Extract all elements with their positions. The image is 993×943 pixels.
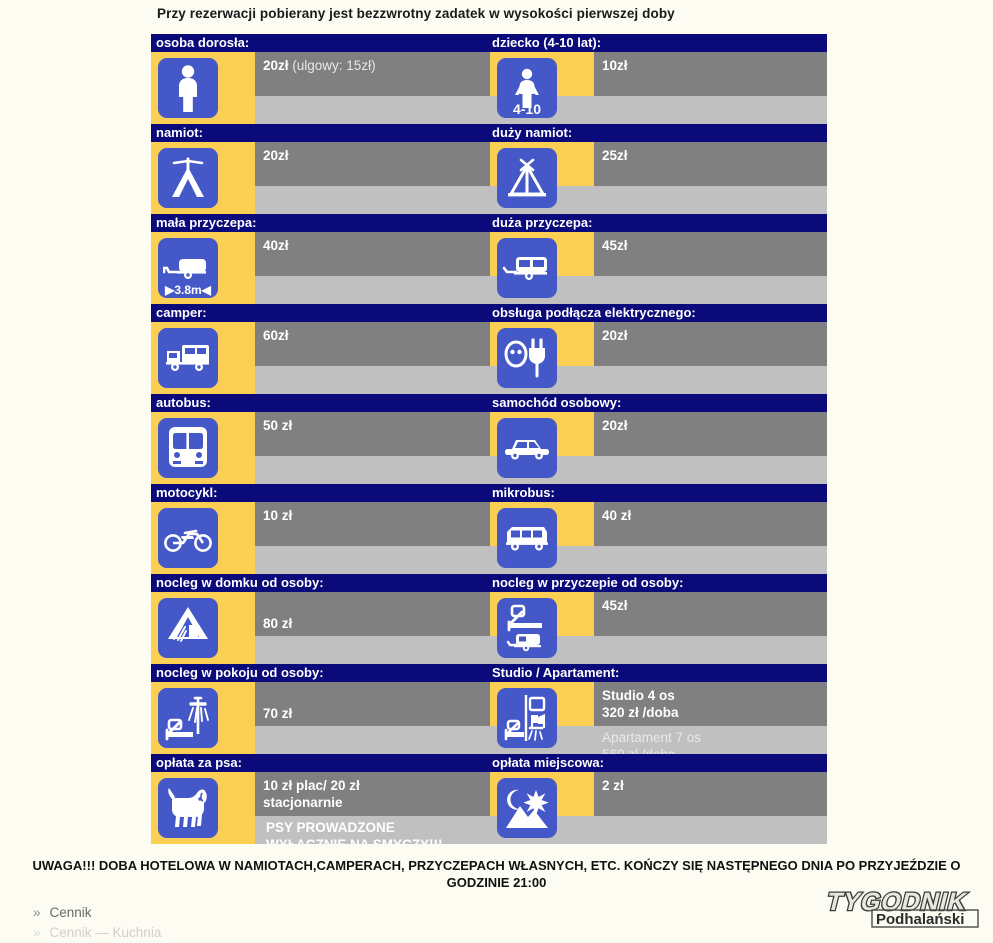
- row-body: 80 zł45zł: [151, 592, 827, 664]
- price-left-value: 40zł: [263, 238, 289, 253]
- table-row: camper:obsługa podłącza elektrycznego:60…: [151, 304, 827, 394]
- price-left: 60zł: [263, 327, 289, 344]
- studio-apartment-icon: [497, 688, 557, 748]
- price-left-value: 20zł: [263, 58, 292, 73]
- footer-link-label: Cennik: [50, 905, 92, 920]
- row-body: 60zł20zł: [151, 322, 827, 394]
- row-header-right: samochód osobowy:: [492, 395, 621, 410]
- big-tent-icon: [497, 148, 557, 208]
- row-header-left: camper:: [156, 305, 207, 320]
- footer-link-1[interactable]: »Cennik — Kuchnia: [33, 923, 353, 943]
- row-header-left: motocykl:: [156, 485, 217, 500]
- footer-link-0[interactable]: »Cennik: [33, 903, 353, 923]
- row-body: 10 zł plac/ 20 zł stacjonarnie PSY PROWA…: [151, 772, 827, 844]
- row-body: 4-1020zł (ulgowy: 15zł)10zł: [151, 52, 827, 124]
- child-person-icon: 4-10: [497, 58, 557, 118]
- logo-line2-text: Podhalański: [876, 911, 964, 928]
- dog-leash-note: PSY PROWADZONE WYŁĄCZNIE NA SMYCZY!!!: [266, 819, 442, 844]
- price-left: 40zł: [263, 237, 289, 254]
- table-row: osoba dorosła:dziecko (4-10 lat):4-1020z…: [151, 34, 827, 124]
- row-header-bar: nocleg w domku od osoby:nocleg w przycze…: [151, 574, 827, 592]
- row-header-right: duży namiot:: [492, 125, 572, 140]
- camper-icon: [158, 328, 218, 388]
- room-bed-shower-icon: [158, 688, 218, 748]
- price-right: 20zł: [602, 417, 628, 434]
- price-left-discount: (ulgowy: 15zł): [292, 58, 375, 73]
- row-header-bar: osoba dorosła:dziecko (4-10 lat):: [151, 34, 827, 52]
- row-header-left: nocleg w domku od osoby:: [156, 575, 324, 590]
- price-left-value: 80 zł: [263, 616, 292, 631]
- row-header-left: osoba dorosła:: [156, 35, 249, 50]
- row-header-right: nocleg w przyczepie od osoby:: [492, 575, 683, 590]
- price-left-value: 10 zł plac/ 20 zł stacjonarnie: [263, 778, 360, 810]
- row-header-bar: mała przyczepa:duża przyczepa:: [151, 214, 827, 232]
- row-body: 20zł25zł: [151, 142, 827, 214]
- row-header-bar: namiot:duży namiot:: [151, 124, 827, 142]
- price-left-value: 10 zł: [263, 508, 292, 523]
- price-right: 10zł: [602, 57, 628, 74]
- table-row: motocykl:mikrobus:10 zł40 zł: [151, 484, 827, 574]
- price-left-value: 20zł: [263, 148, 289, 163]
- table-row: opłata za psa:opłata miejscowa:10 zł pla…: [151, 754, 827, 844]
- reservation-notice: Przy rezerwacji pobierany jest bezzwrotn…: [157, 6, 675, 21]
- cottage-icon: [158, 598, 218, 658]
- price-right-secondary: Apartament 7 os 560 zł /doba: [602, 729, 701, 754]
- caravan-bed-icon: [497, 598, 557, 658]
- price-left: 20zł: [263, 147, 289, 164]
- footer-links: »Cennik»Cennik — Kuchnia: [33, 903, 353, 943]
- row-header-bar: camper:obsługa podłącza elektrycznego:: [151, 304, 827, 322]
- row-header-left: namiot:: [156, 125, 203, 140]
- row-header-right: obsługa podłącza elektrycznego:: [492, 305, 696, 320]
- price-left: 80 zł: [263, 615, 292, 632]
- small-caravan-badge: ▶3.8m◀: [158, 283, 218, 297]
- price-right: 45zł: [602, 597, 628, 614]
- child-person-badge: 4-10: [497, 101, 557, 117]
- price-right: 45zł: [602, 237, 628, 254]
- electric-plug-icon: [497, 328, 557, 388]
- car-icon: [497, 418, 557, 478]
- row-header-right: Studio / Apartament:: [492, 665, 619, 680]
- price-left: 10 zł: [263, 507, 292, 524]
- row-header-bar: nocleg w pokoju od osoby:Studio / Aparta…: [151, 664, 827, 682]
- logo-graphic: TYGODNIK Podhalański: [806, 883, 986, 929]
- tent-icon: [158, 148, 218, 208]
- table-row: autobus:samochód osobowy:50 zł20zł: [151, 394, 827, 484]
- row-header-right: mikrobus:: [492, 485, 555, 500]
- bus-icon: [158, 418, 218, 478]
- price-left: 50 zł: [263, 417, 292, 434]
- price-left: 70 zł: [263, 705, 292, 722]
- large-caravan-icon: [497, 238, 557, 298]
- price-right: Studio 4 os 320 zł /doba: [602, 687, 679, 721]
- price-right: 40 zł: [602, 507, 631, 524]
- row-header-bar: autobus:samochód osobowy:: [151, 394, 827, 412]
- row-header-left: nocleg w pokoju od osoby:: [156, 665, 324, 680]
- row-header-left: mała przyczepa:: [156, 215, 256, 230]
- row-header-right: opłata miejscowa:: [492, 755, 604, 770]
- table-row: mała przyczepa:duża przyczepa:▶3.8m◀40zł…: [151, 214, 827, 304]
- table-row: namiot:duży namiot:20zł25zł: [151, 124, 827, 214]
- price-right: 25zł: [602, 147, 628, 164]
- row-header-right: duża przyczepa:: [492, 215, 592, 230]
- row-header-left: autobus:: [156, 395, 211, 410]
- tygodnik-podhalanski-logo: TYGODNIK Podhalański: [806, 883, 986, 929]
- price-left-value: 50 zł: [263, 418, 292, 433]
- row-header-right: dziecko (4-10 lat):: [492, 35, 601, 50]
- row-body: 70 złStudio 4 os 320 zł /dobaApartament …: [151, 682, 827, 754]
- table-row: nocleg w domku od osoby:nocleg w przycze…: [151, 574, 827, 664]
- row-header-bar: motocykl:mikrobus:: [151, 484, 827, 502]
- footer-link-label: Cennik — Kuchnia: [50, 925, 162, 940]
- mountain-moon-sun-icon: [497, 778, 557, 838]
- price-right: 20zł: [602, 327, 628, 344]
- row-header-bar: opłata za psa:opłata miejscowa:: [151, 754, 827, 772]
- dog-icon: [158, 778, 218, 838]
- price-left-value: 60zł: [263, 328, 289, 343]
- chevron-right-icon: »: [33, 905, 41, 920]
- minibus-icon: [497, 508, 557, 568]
- price-right: 2 zł: [602, 777, 624, 794]
- adult-person-icon: [158, 58, 218, 118]
- price-table: osoba dorosła:dziecko (4-10 lat):4-1020z…: [151, 34, 827, 844]
- row-body: 10 zł40 zł: [151, 502, 827, 574]
- table-row: nocleg w pokoju od osoby:Studio / Aparta…: [151, 664, 827, 754]
- row-body: ▶3.8m◀40zł45zł: [151, 232, 827, 304]
- chevron-right-icon: »: [33, 925, 41, 940]
- row-body: 50 zł20zł: [151, 412, 827, 484]
- price-left: 20zł (ulgowy: 15zł): [263, 57, 376, 74]
- small-caravan-icon: ▶3.8m◀: [158, 238, 218, 298]
- row-header-left: opłata za psa:: [156, 755, 242, 770]
- price-left: 10 zł plac/ 20 zł stacjonarnie: [263, 777, 360, 811]
- price-left-value: 70 zł: [263, 706, 292, 721]
- motorcycle-icon: [158, 508, 218, 568]
